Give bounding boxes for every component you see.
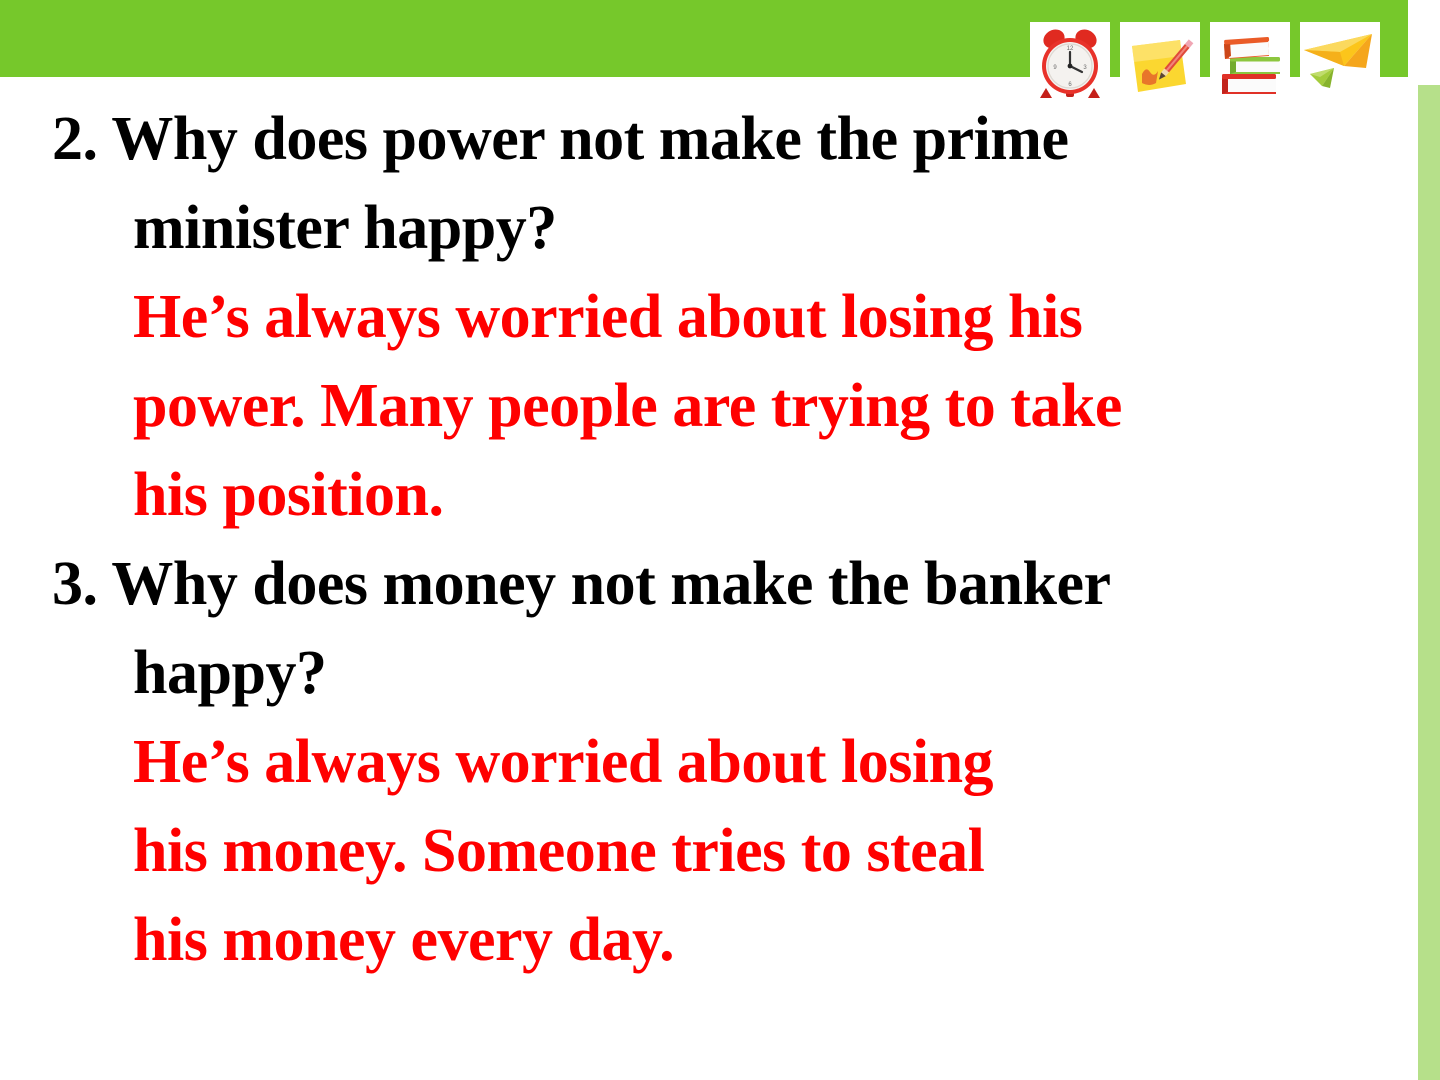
answer-3-line-3: his money every day. <box>0 896 1400 985</box>
right-green-stripe <box>1418 85 1440 1080</box>
answer-2-line-2: power. Many people are trying to take <box>0 362 1400 451</box>
question-3-line-2: happy? <box>0 629 1400 718</box>
decor-icon-strip: 12 3 6 9 <box>1030 22 1380 104</box>
slide-canvas: 12 3 6 9 <box>0 0 1440 1080</box>
question-2-line-2: minister happy? <box>0 184 1400 273</box>
answer-2-line-1: He’s always worried about losing his <box>0 273 1400 362</box>
alarm-clock-icon: 12 3 6 9 <box>1030 22 1110 104</box>
note-pencil-icon <box>1120 22 1200 104</box>
slide-body-text: 2. Why does power not make the prime min… <box>0 95 1400 985</box>
question-3-line-1: 3. Why does money not make the banker <box>0 540 1400 629</box>
answer-3-line-1: He’s always worried about losing <box>0 718 1400 807</box>
answer-3-line-2: his money. Someone tries to steal <box>0 807 1400 896</box>
book-stack-icon <box>1210 22 1290 104</box>
question-2-line-1: 2. Why does power not make the prime <box>0 95 1400 184</box>
answer-2-line-3: his position. <box>0 451 1400 540</box>
paper-plane-icon <box>1300 22 1380 104</box>
